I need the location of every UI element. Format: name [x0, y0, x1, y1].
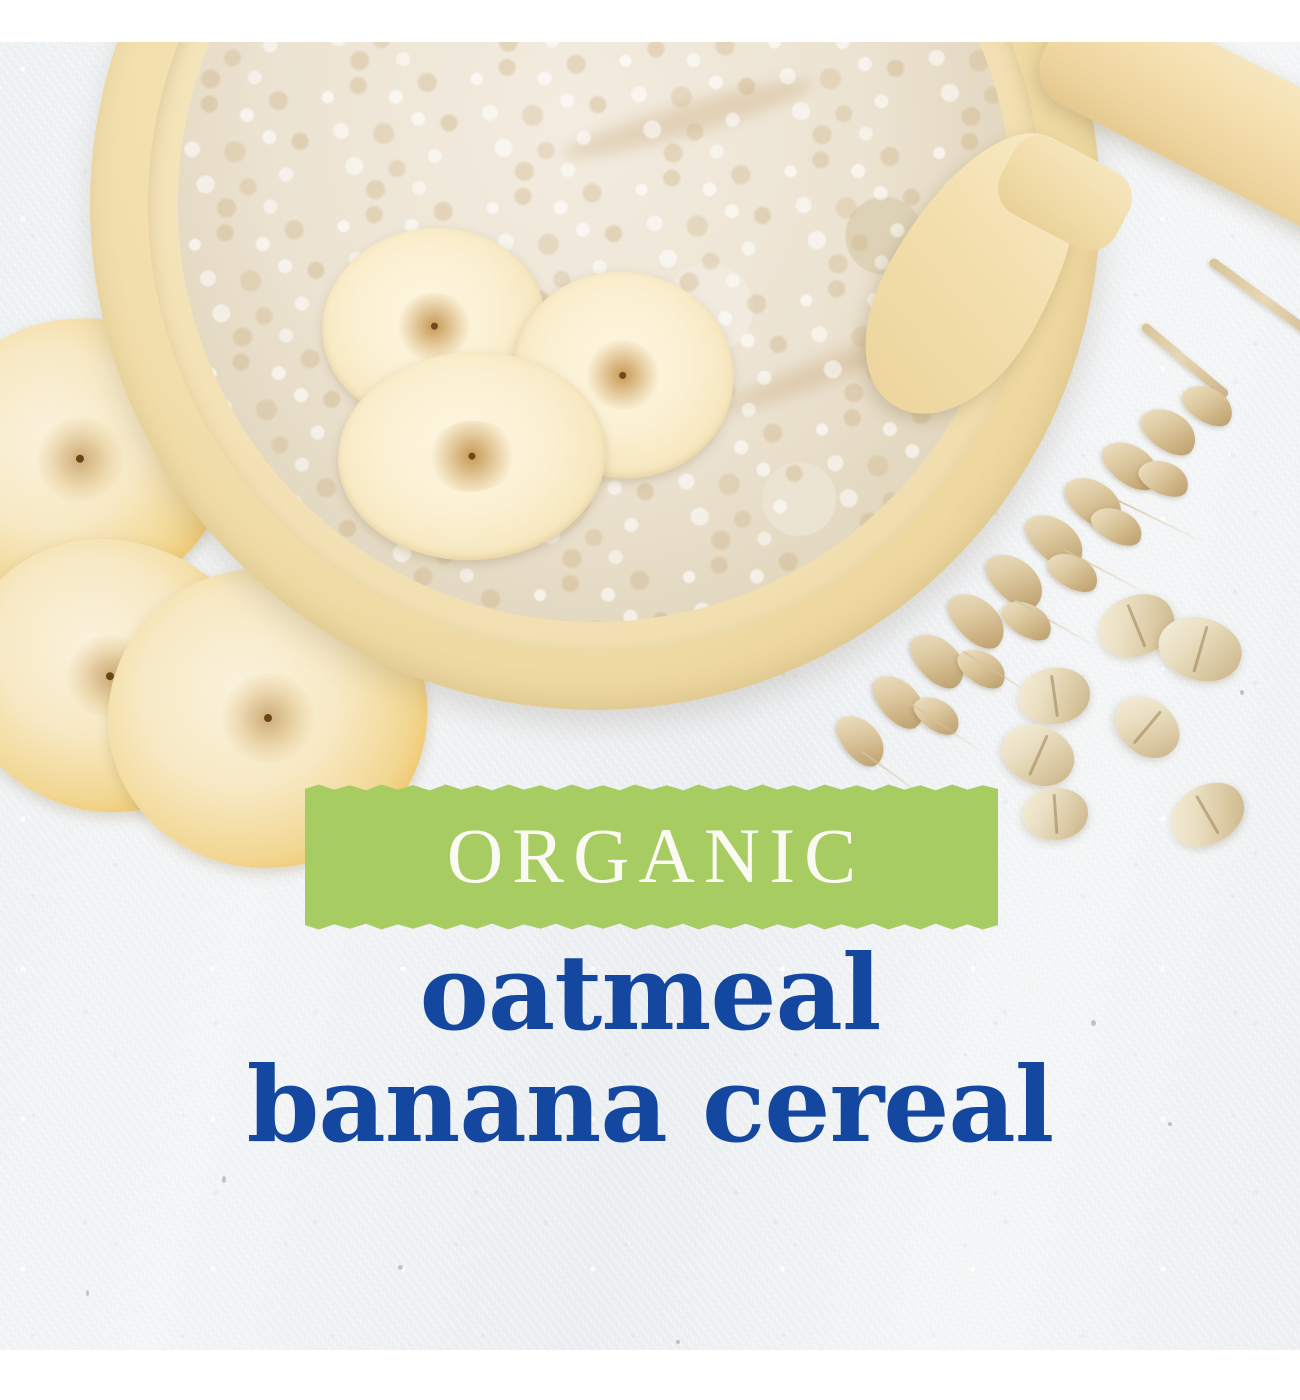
- banana-slice-core: [425, 418, 520, 493]
- organic-banner: ORGANIC: [305, 783, 998, 931]
- oat-flake: [992, 713, 1083, 796]
- banana-chip-core: [26, 407, 134, 511]
- product-name-line-1: oatmeal: [0, 940, 1300, 1046]
- porridge-streak: [559, 69, 817, 170]
- organic-banner-label: ORGANIC: [305, 783, 998, 931]
- bottom-white-strip: [0, 1350, 1300, 1400]
- wheat-grain: [951, 640, 1012, 696]
- banana-slice-core: [580, 334, 666, 416]
- oat-flake: [1103, 684, 1191, 770]
- wheat-grain: [829, 706, 893, 774]
- oat-flake: [1014, 663, 1093, 728]
- wheat-stalk-stem: [1140, 322, 1230, 400]
- package-front-panel: ORGANIC oatmeal banana cereal: [0, 0, 1300, 1400]
- banana-chip-core: [216, 669, 319, 767]
- oat-flake: [1159, 770, 1256, 859]
- wheat-stalk-stem: [1208, 257, 1300, 352]
- oat-flake: [1020, 786, 1089, 842]
- product-name: oatmeal banana cereal: [0, 940, 1300, 1158]
- top-white-strip: [0, 0, 1300, 42]
- product-name-line-2: banana cereal: [0, 1052, 1300, 1158]
